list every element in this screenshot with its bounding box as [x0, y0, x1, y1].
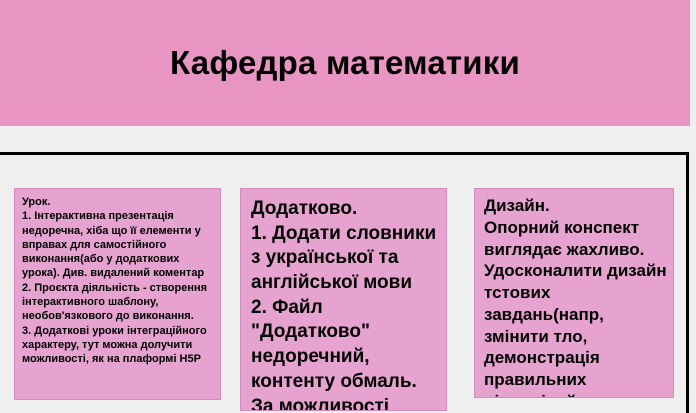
note-card-lesson[interactable]: Урок. 1. Інтерактивна презентація недоре…	[14, 188, 221, 400]
page-title: Кафедра математики	[170, 45, 520, 81]
header-banner: Кафедра математики	[0, 0, 690, 126]
note-card-design-text: Дизайн. Опорний конспект виглядає жахлив…	[484, 195, 667, 398]
note-card-extra[interactable]: Додатково. 1. Додати словники з українсь…	[240, 188, 447, 411]
note-card-extra-text: Додатково. 1. Додати словники з українсь…	[251, 197, 438, 411]
note-card-lesson-text: Урок. 1. Інтерактивна презентація недоре…	[22, 195, 213, 367]
note-card-design[interactable]: Дизайн. Опорний конспект виглядає жахлив…	[474, 188, 674, 398]
